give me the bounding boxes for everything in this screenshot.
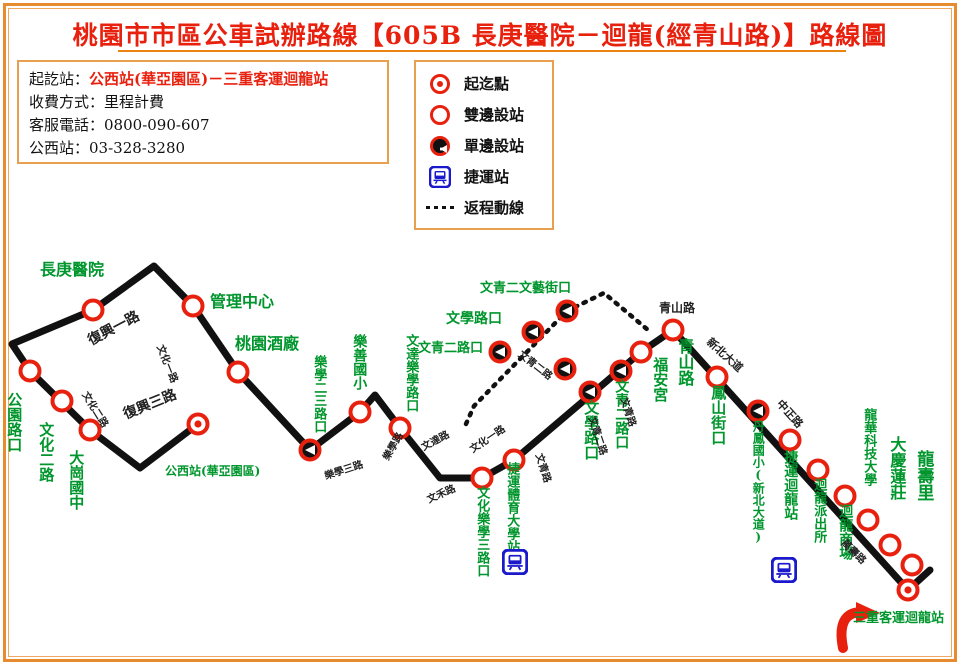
station-label: 公園路口 (6, 392, 21, 452)
station-node[interactable] (781, 431, 800, 450)
station-label: 大慶蓮莊 (888, 436, 904, 500)
return-station-node[interactable] (524, 323, 543, 342)
station-label: 捷運迴龍站 (783, 450, 797, 520)
station-label: 文青二文藝街口 (480, 282, 571, 295)
legend-item-one-side-stop: 單邊設站 (426, 130, 552, 161)
station-label: 龍華科技大學 (862, 408, 875, 486)
station-label: 文學路口 (446, 312, 502, 326)
info-label-service-phone: 客服電話： (29, 116, 104, 134)
station-node[interactable] (473, 469, 492, 488)
dotted-return-line-icon (426, 195, 460, 221)
legend-item-return-route: 返程動線 (426, 192, 552, 223)
station-node[interactable] (708, 368, 727, 387)
station-node[interactable] (21, 362, 40, 381)
station-node[interactable] (632, 343, 651, 362)
legend-item-terminus: 起迄點 (426, 68, 552, 99)
legend-item-both-side-stop: 雙邊設站 (426, 99, 552, 130)
return-station-node[interactable] (491, 343, 510, 362)
station-label: 文青二路口 (418, 342, 483, 355)
station-node[interactable] (899, 581, 918, 600)
station-label: 文達樂學路口 (404, 334, 417, 412)
station-node[interactable] (556, 360, 575, 379)
station-node[interactable] (859, 511, 878, 530)
station-label: 長庚醫院 (40, 262, 104, 278)
station-label: 三重客運迴龍站 (853, 612, 944, 625)
info-label-station-phone: 公西站： (29, 139, 89, 157)
station-node[interactable] (53, 392, 72, 411)
station-node[interactable] (881, 536, 900, 555)
info-row-service-phone: 客服電話：0800-090-607 (29, 114, 377, 137)
station-label: 文化二路 (38, 422, 53, 482)
station-node[interactable] (184, 297, 203, 316)
mrt-station-icon-tiyu-daxue[interactable] (502, 549, 528, 575)
station-node[interactable] (903, 556, 922, 575)
station-node[interactable] (612, 362, 631, 381)
legend-label-both-side-stop: 雙邊設站 (464, 104, 524, 125)
route-map-page: 桃園市市區公車試辦路線【605B 長庚醫院－迴龍(經青山路)】路線圖 起訖站：公… (0, 0, 960, 665)
return-station-node[interactable] (558, 302, 577, 321)
info-row-fare: 收費方式：里程計費 (29, 91, 377, 114)
road-label: 青山路 (659, 299, 695, 316)
station-label: 捷運體育大學站 (505, 462, 518, 553)
info-value-service-phone: 0800-090-607 (104, 116, 210, 134)
station-label: 公西站(華亞園區) (165, 465, 260, 477)
info-label-fare: 收費方式： (29, 93, 104, 111)
one-side-stop-marker-icon (426, 133, 460, 159)
station-label: 樂善國小 (352, 334, 366, 390)
legend-label-one-side-stop: 單邊設站 (464, 135, 524, 156)
station-node[interactable] (749, 402, 768, 421)
route-map-canvas: 長庚醫院管理中心桃園酒廠公園路口文化二路大崗國中公西站(華亞園區)樂學二三路口樂… (0, 232, 960, 665)
station-node[interactable] (229, 363, 248, 382)
station-node[interactable] (301, 441, 320, 460)
legend-box: 起迄點 雙邊設站 單邊設站 (414, 60, 554, 230)
station-label: 管理中心 (210, 294, 274, 310)
legend-item-mrt-station: 捷運站 (426, 161, 552, 192)
legend-label-return-route: 返程動線 (464, 197, 524, 218)
info-label-origin-destination: 起訖站： (29, 70, 89, 88)
legend-label-terminus: 起迄點 (464, 73, 509, 94)
station-node[interactable] (581, 383, 600, 402)
station-label: 青山路 (676, 338, 692, 386)
station-node[interactable] (809, 461, 828, 480)
station-node[interactable] (351, 403, 370, 422)
station-label: 龍壽里 (914, 450, 931, 501)
station-label: 桃園酒廠 (235, 336, 299, 352)
info-row-origin-destination: 起訖站：公西站(華亞園區)－三重客運迴龍站 (29, 68, 377, 91)
station-label: 文化樂學三路口 (475, 486, 488, 577)
title-underline (118, 50, 846, 52)
mrt-station-icon (426, 164, 460, 190)
info-row-station-phone: 公西站：03-328-3280 (29, 137, 377, 160)
info-value-fare: 里程計費 (104, 93, 164, 111)
info-value-origin-destination: 公西站(華亞園區)－三重客運迴龍站 (89, 70, 328, 88)
station-node[interactable] (84, 301, 103, 320)
station-node[interactable] (836, 487, 855, 506)
station-label: 迴龍派出所 (812, 478, 825, 543)
station-label: 福安宮 (652, 357, 667, 402)
mrt-station-icon-huilong[interactable] (771, 557, 797, 583)
legend-label-mrt-station: 捷運站 (464, 166, 509, 187)
station-node[interactable] (664, 321, 683, 340)
station-label: 樂學二三路口 (312, 355, 325, 433)
terminus-marker-icon (426, 71, 460, 97)
station-label: 鳳山街口 (710, 385, 725, 445)
page-title: 桃園市市區公車試辦路線【605B 長庚醫院－迴龍(經青山路)】路線圖 (40, 16, 920, 52)
info-value-station-phone: 03-328-3280 (89, 139, 185, 157)
route-info-box: 起訖站：公西站(華亞園區)－三重客運迴龍站 收費方式：里程計費 客服電話：080… (17, 60, 389, 164)
station-node[interactable] (189, 415, 208, 434)
station-label: 大崗國中 (68, 450, 83, 510)
station-label: 丹鳳國小(新北大道) (752, 420, 764, 544)
both-side-stop-marker-icon (426, 102, 460, 128)
